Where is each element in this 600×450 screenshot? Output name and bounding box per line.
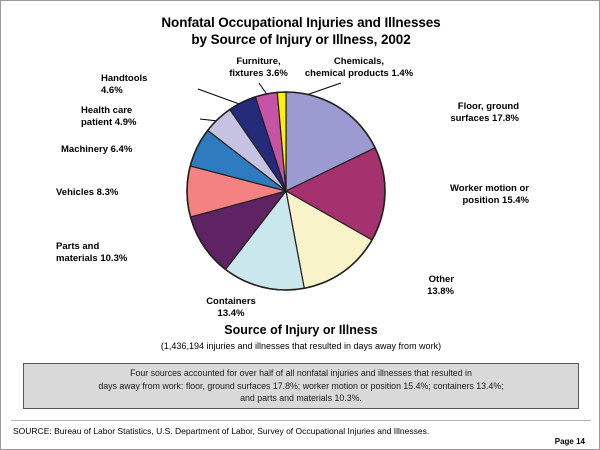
slice-label-floor-line1: Floor, ground [458, 101, 519, 112]
note-line-3: and parts and materials 10.3%. [98, 392, 503, 405]
slice-label-floor-line2: surfaces 17.8% [450, 113, 519, 124]
pie-graphic [186, 91, 386, 291]
slice-label-handtools: Handtools 4.6% [101, 73, 206, 96]
slice-label-health-care-patient: Health care patient 4.9% [81, 105, 206, 128]
slice-label-chemicals-line2: chemical products 1.4% [305, 68, 413, 79]
slice-label-machinery: Machinery 6.4% [61, 144, 206, 156]
axis-title: Source of Injury or Illness [1, 323, 600, 337]
pie-chart-area: Furniture, fixtures 3.6% Chemicals, chem… [1, 61, 600, 321]
note-line-2: days away from work: floor, ground surfa… [98, 380, 503, 393]
chart-page: Nonfatal Occupational Injuries and Illne… [0, 0, 600, 450]
slice-label-floor-ground-surfaces: Floor, ground surfaces 17.8% [379, 101, 519, 124]
slice-label-containers-line1: Containers [206, 296, 256, 307]
slice-label-healthcare-line1: Health care [81, 105, 132, 116]
slice-label-healthcare-line2: patient 4.9% [81, 117, 136, 128]
title-line-1: Nonfatal Occupational Injuries and Illne… [161, 15, 440, 30]
slice-label-furniture-line1: Furniture, [236, 56, 280, 67]
slice-label-containers: Containers 13.4% [176, 296, 286, 319]
footer-divider [11, 420, 591, 421]
slice-label-other-line1: Other [429, 274, 454, 285]
page-title: Nonfatal Occupational Injuries and Illne… [1, 14, 600, 48]
pie-slices [187, 92, 385, 290]
slice-label-worker-motion-or-position: Worker motion or position 15.4% [379, 183, 529, 206]
slice-label-parts-line1: Parts and [56, 241, 99, 252]
page-number: Page 14 [555, 437, 585, 446]
slice-label-parts-and-materials: Parts and materials 10.3% [56, 241, 201, 264]
slice-label-handtools-line1: Handtools [101, 73, 147, 84]
slice-label-chemicals-line1: Chemicals, [334, 56, 384, 67]
pie-svg [186, 91, 386, 291]
slice-label-handtools-line2: 4.6% [101, 85, 123, 96]
axis-subtitle: (1,436,194 injuries and illnesses that r… [1, 341, 600, 351]
slice-label-parts-line2: materials 10.3% [56, 253, 127, 264]
slice-label-other: Other 13.8% [374, 274, 454, 297]
highlight-note-text: Four sources accounted for over half of … [88, 367, 513, 405]
slice-label-chemicals: Chemicals, chemical products 1.4% [289, 56, 429, 79]
title-line-2: by Source of Injury or Illness, 2002 [1, 31, 600, 48]
slice-label-worker-line2: position 15.4% [462, 195, 529, 206]
slice-label-furniture-line2: fixtures 3.6% [229, 68, 288, 79]
source-note: SOURCE: Bureau of Labor Statistics, U.S.… [13, 426, 429, 436]
highlight-note-box: Four sources accounted for over half of … [23, 363, 579, 409]
slice-label-worker-line1: Worker motion or [450, 183, 529, 194]
slice-label-vehicles: Vehicles 8.3% [56, 187, 206, 199]
note-line-1: Four sources accounted for over half of … [98, 367, 503, 380]
slice-label-containers-line2: 13.4% [218, 308, 245, 319]
slice-label-other-line2: 13.8% [427, 286, 454, 297]
